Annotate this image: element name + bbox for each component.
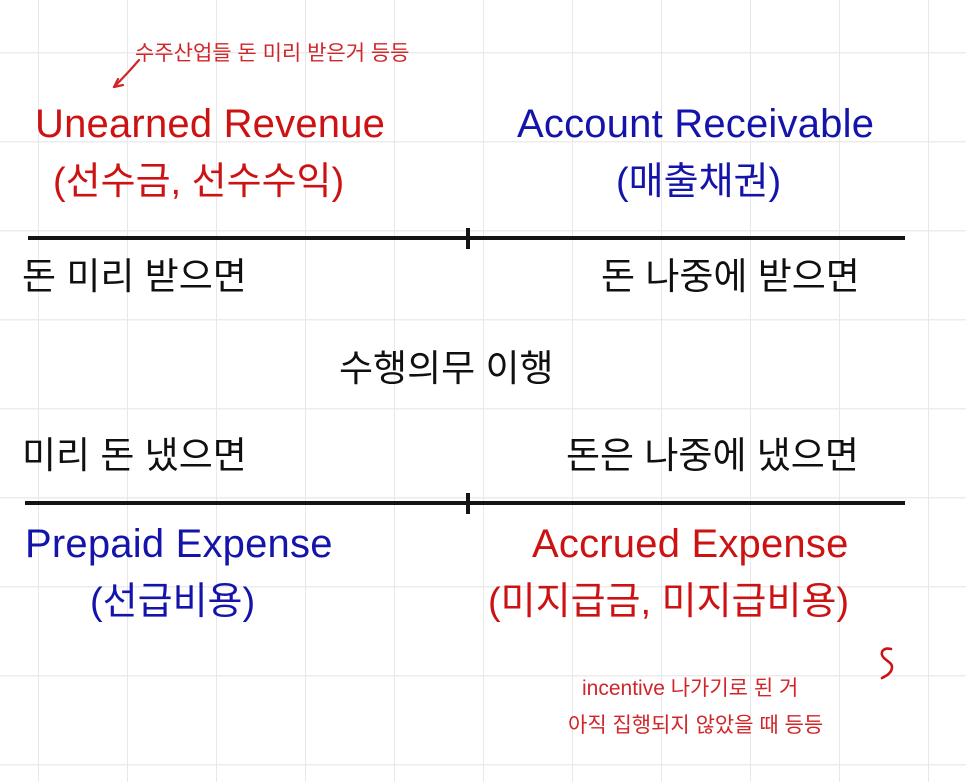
annotation-top-text: 수주산업들 돈 미리 받은거 등등 xyxy=(135,40,410,68)
divider-line-lower xyxy=(25,501,905,505)
term-accrued-expense-ko: (미지급금, 미지급비용) xyxy=(488,583,849,621)
condition-lower-right: 돈은 나중에 냈으면 xyxy=(566,437,859,474)
handwritten-notes-canvas: 수주산업들 돈 미리 받은거 등등 Unearned Revenue (선수금,… xyxy=(0,0,966,782)
axis-tick-upper xyxy=(466,228,470,249)
center-label-performance-obligation: 수행의무 이행 xyxy=(339,350,554,387)
axis-tick-lower xyxy=(466,493,470,514)
curly-brace-squiggle-icon xyxy=(876,645,904,683)
term-prepaid-expense-en: Prepaid Expense xyxy=(25,524,333,564)
term-unearned-revenue-en: Unearned Revenue xyxy=(35,104,385,144)
term-account-receivable-ko: (매출채권) xyxy=(616,163,781,201)
term-prepaid-expense-ko: (선급비용) xyxy=(90,583,255,621)
annotation-bottom-line1: incentive 나가기로 된 거 xyxy=(582,675,798,703)
term-unearned-revenue-ko: (선수금, 선수수익) xyxy=(53,163,344,201)
condition-upper-left: 돈 미리 받으면 xyxy=(22,258,247,295)
annotation-bottom-line2: 아직 집행되지 않았을 때 등등 xyxy=(568,712,823,740)
arrow-pointing-down-left-icon xyxy=(105,58,145,94)
term-account-receivable-en: Account Receivable xyxy=(517,104,874,144)
term-accrued-expense-en: Accrued Expense xyxy=(532,524,849,564)
condition-lower-left: 미리 돈 냈으면 xyxy=(22,437,247,474)
condition-upper-right: 돈 나중에 받으면 xyxy=(601,258,860,295)
